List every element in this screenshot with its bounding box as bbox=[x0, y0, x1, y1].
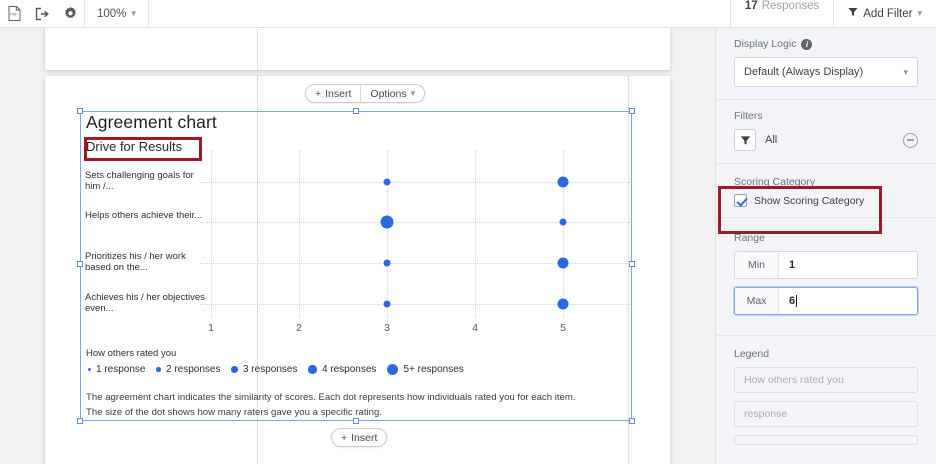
legend-panel-label: Legend bbox=[734, 348, 918, 360]
toolbar-divider-2 bbox=[148, 0, 149, 28]
gridline-vertical bbox=[387, 150, 388, 318]
options-button[interactable]: Options ▾ bbox=[361, 85, 424, 102]
document-page-previous bbox=[45, 28, 670, 70]
responses-counter: 17 Responses bbox=[731, 0, 833, 28]
filter-icon bbox=[848, 7, 858, 20]
text-cursor bbox=[796, 295, 797, 307]
gridline-vertical bbox=[563, 150, 564, 318]
responses-count: 17 bbox=[745, 0, 758, 12]
chevron-down-icon: ▾ bbox=[131, 8, 136, 19]
resize-handle-bottom-left[interactable] bbox=[77, 418, 83, 424]
legend-field-2[interactable]: response bbox=[734, 401, 918, 427]
legend-title: How others rated you bbox=[86, 348, 176, 359]
range-max-value-wrap[interactable]: 6 bbox=[779, 288, 917, 314]
chart-category-label: Sets challenging goals for him /... bbox=[85, 170, 205, 192]
responses-label: Responses bbox=[762, 0, 820, 12]
gridline-vertical bbox=[299, 150, 300, 318]
chart-data-point bbox=[384, 179, 391, 186]
legend-dot-icon bbox=[387, 364, 398, 375]
range-max-field[interactable]: Max 6 bbox=[734, 287, 918, 315]
legend-item-label: 3 responses bbox=[243, 364, 297, 375]
display-logic-value: Default (Always Display) bbox=[744, 66, 863, 78]
legend-item-label: 2 responses bbox=[166, 364, 220, 375]
resize-handle-bottom-right[interactable] bbox=[629, 418, 635, 424]
pdf-file-icon[interactable]: PDF bbox=[0, 0, 28, 28]
chart-title: Agreement chart bbox=[86, 112, 217, 133]
legend-section: Legend How others rated you response bbox=[716, 336, 936, 464]
chart-data-point bbox=[381, 216, 394, 229]
add-filter-label: Add Filter bbox=[863, 8, 912, 20]
top-toolbar: PDF 100% ▾ 17 Responses bbox=[0, 0, 936, 28]
legend-item-label: 1 response bbox=[96, 364, 145, 375]
highlight-box-subtitle bbox=[84, 137, 202, 161]
legend-dot-icon bbox=[231, 366, 238, 373]
margin-guide bbox=[257, 28, 258, 70]
filters-section: Filters All bbox=[716, 100, 936, 163]
svg-text:PDF: PDF bbox=[10, 12, 18, 16]
chart-data-point bbox=[560, 219, 567, 226]
legend-dot-icon bbox=[308, 365, 317, 374]
zoom-level-value: 100% bbox=[97, 8, 126, 20]
chevron-down-icon: ▾ bbox=[903, 67, 908, 78]
legend-item-label: 4 responses bbox=[322, 364, 376, 375]
chart-description-line-1: The agreement chart indicates the simila… bbox=[86, 390, 626, 405]
display-logic-label-row: Display Logic i bbox=[734, 38, 918, 50]
x-axis-tick-label: 3 bbox=[384, 322, 390, 334]
minus-circle-icon[interactable] bbox=[903, 133, 918, 148]
highlight-box-scoring-category bbox=[718, 186, 882, 234]
legend-item: 5+ responses bbox=[387, 364, 463, 375]
gear-icon[interactable] bbox=[56, 0, 84, 28]
toolbar-left-group: PDF 100% ▾ bbox=[0, 0, 149, 28]
gridline-vertical bbox=[475, 150, 476, 318]
chart-category-label: Achieves his / her objectives even... bbox=[85, 292, 205, 314]
add-filter-button[interactable]: Add Filter ▾ bbox=[834, 0, 936, 28]
x-axis-tick-label: 5 bbox=[560, 322, 566, 334]
chart-data-point bbox=[384, 260, 391, 267]
legend-field-3[interactable] bbox=[734, 435, 918, 445]
insert-label: Insert bbox=[325, 88, 351, 100]
zoom-level-selector[interactable]: 100% ▾ bbox=[85, 0, 148, 28]
chart-data-point bbox=[558, 258, 569, 269]
bottom-insert-label: Insert bbox=[351, 432, 377, 444]
legend-field-1[interactable]: How others rated you bbox=[734, 367, 918, 393]
legend-field-1-placeholder: How others rated you bbox=[744, 374, 844, 386]
legend-item: 3 responses bbox=[231, 364, 297, 375]
legend-item-label: 5+ responses bbox=[403, 364, 463, 375]
range-min-key: Min bbox=[735, 252, 779, 278]
range-max-key: Max bbox=[735, 288, 779, 314]
x-axis-tick-label: 4 bbox=[472, 322, 478, 334]
resize-handle-middle-left[interactable] bbox=[77, 261, 83, 267]
resize-handle-top-center[interactable] bbox=[353, 108, 359, 114]
chart-description: The agreement chart indicates the simila… bbox=[86, 390, 626, 420]
range-min-value[interactable]: 1 bbox=[779, 252, 917, 278]
legend-dot-icon bbox=[156, 367, 161, 372]
chevron-down-icon: ▾ bbox=[917, 8, 922, 19]
range-max-value: 6 bbox=[789, 295, 795, 307]
filter-value: All bbox=[765, 134, 777, 146]
legend-dot-icon bbox=[88, 368, 91, 371]
gridline-vertical bbox=[211, 150, 212, 318]
chart-category-label: Prioritizes his / her work based on the.… bbox=[85, 251, 205, 273]
bottom-insert-toolbar: + Insert bbox=[331, 428, 387, 447]
plus-icon: + bbox=[341, 432, 347, 444]
legend-field-2-placeholder: response bbox=[744, 408, 787, 420]
chart-data-point bbox=[558, 177, 569, 188]
chart-description-line-2: The size of the dot shows how many rater… bbox=[86, 405, 626, 420]
resize-handle-top-left[interactable] bbox=[77, 108, 83, 114]
chart-legend: 1 response2 responses3 responses4 respon… bbox=[88, 364, 475, 375]
properties-panel: Display Logic i Default (Always Display)… bbox=[715, 28, 936, 464]
export-icon[interactable] bbox=[28, 0, 56, 28]
range-section: Range Min 1 Max 6 bbox=[716, 218, 936, 335]
chart-data-point bbox=[558, 299, 569, 310]
app-root: PDF 100% ▾ 17 Responses bbox=[0, 0, 936, 464]
x-axis-tick-label: 1 bbox=[208, 322, 214, 334]
info-icon[interactable]: i bbox=[801, 39, 812, 50]
chart-plot-area bbox=[200, 160, 630, 312]
legend-item: 2 responses bbox=[156, 364, 220, 375]
insert-button[interactable]: + Insert bbox=[306, 85, 360, 102]
chart-data-point bbox=[384, 301, 391, 308]
display-logic-select[interactable]: Default (Always Display) ▾ bbox=[734, 57, 918, 87]
range-min-field[interactable]: Min 1 bbox=[734, 251, 918, 279]
display-logic-label: Display Logic bbox=[734, 38, 796, 50]
filters-label: Filters bbox=[734, 110, 918, 122]
resize-handle-top-right[interactable] bbox=[629, 108, 635, 114]
bottom-insert-button[interactable]: + Insert bbox=[332, 429, 386, 446]
filter-icon[interactable] bbox=[734, 129, 756, 151]
filters-row: All bbox=[734, 129, 918, 151]
display-logic-section: Display Logic i Default (Always Display)… bbox=[716, 28, 936, 99]
toolbar-right-group: 17 Responses Add Filter ▾ bbox=[730, 0, 936, 28]
options-label: Options bbox=[370, 88, 406, 100]
chart-category-label: Helps others achieve their... bbox=[85, 210, 205, 221]
x-axis-tick-label: 2 bbox=[296, 322, 302, 334]
legend-item: 4 responses bbox=[308, 364, 376, 375]
legend-item: 1 response bbox=[88, 364, 145, 375]
plus-icon: + bbox=[315, 88, 321, 100]
chevron-down-icon: ▾ bbox=[411, 88, 416, 99]
block-toolbar: + Insert Options ▾ bbox=[305, 84, 425, 103]
